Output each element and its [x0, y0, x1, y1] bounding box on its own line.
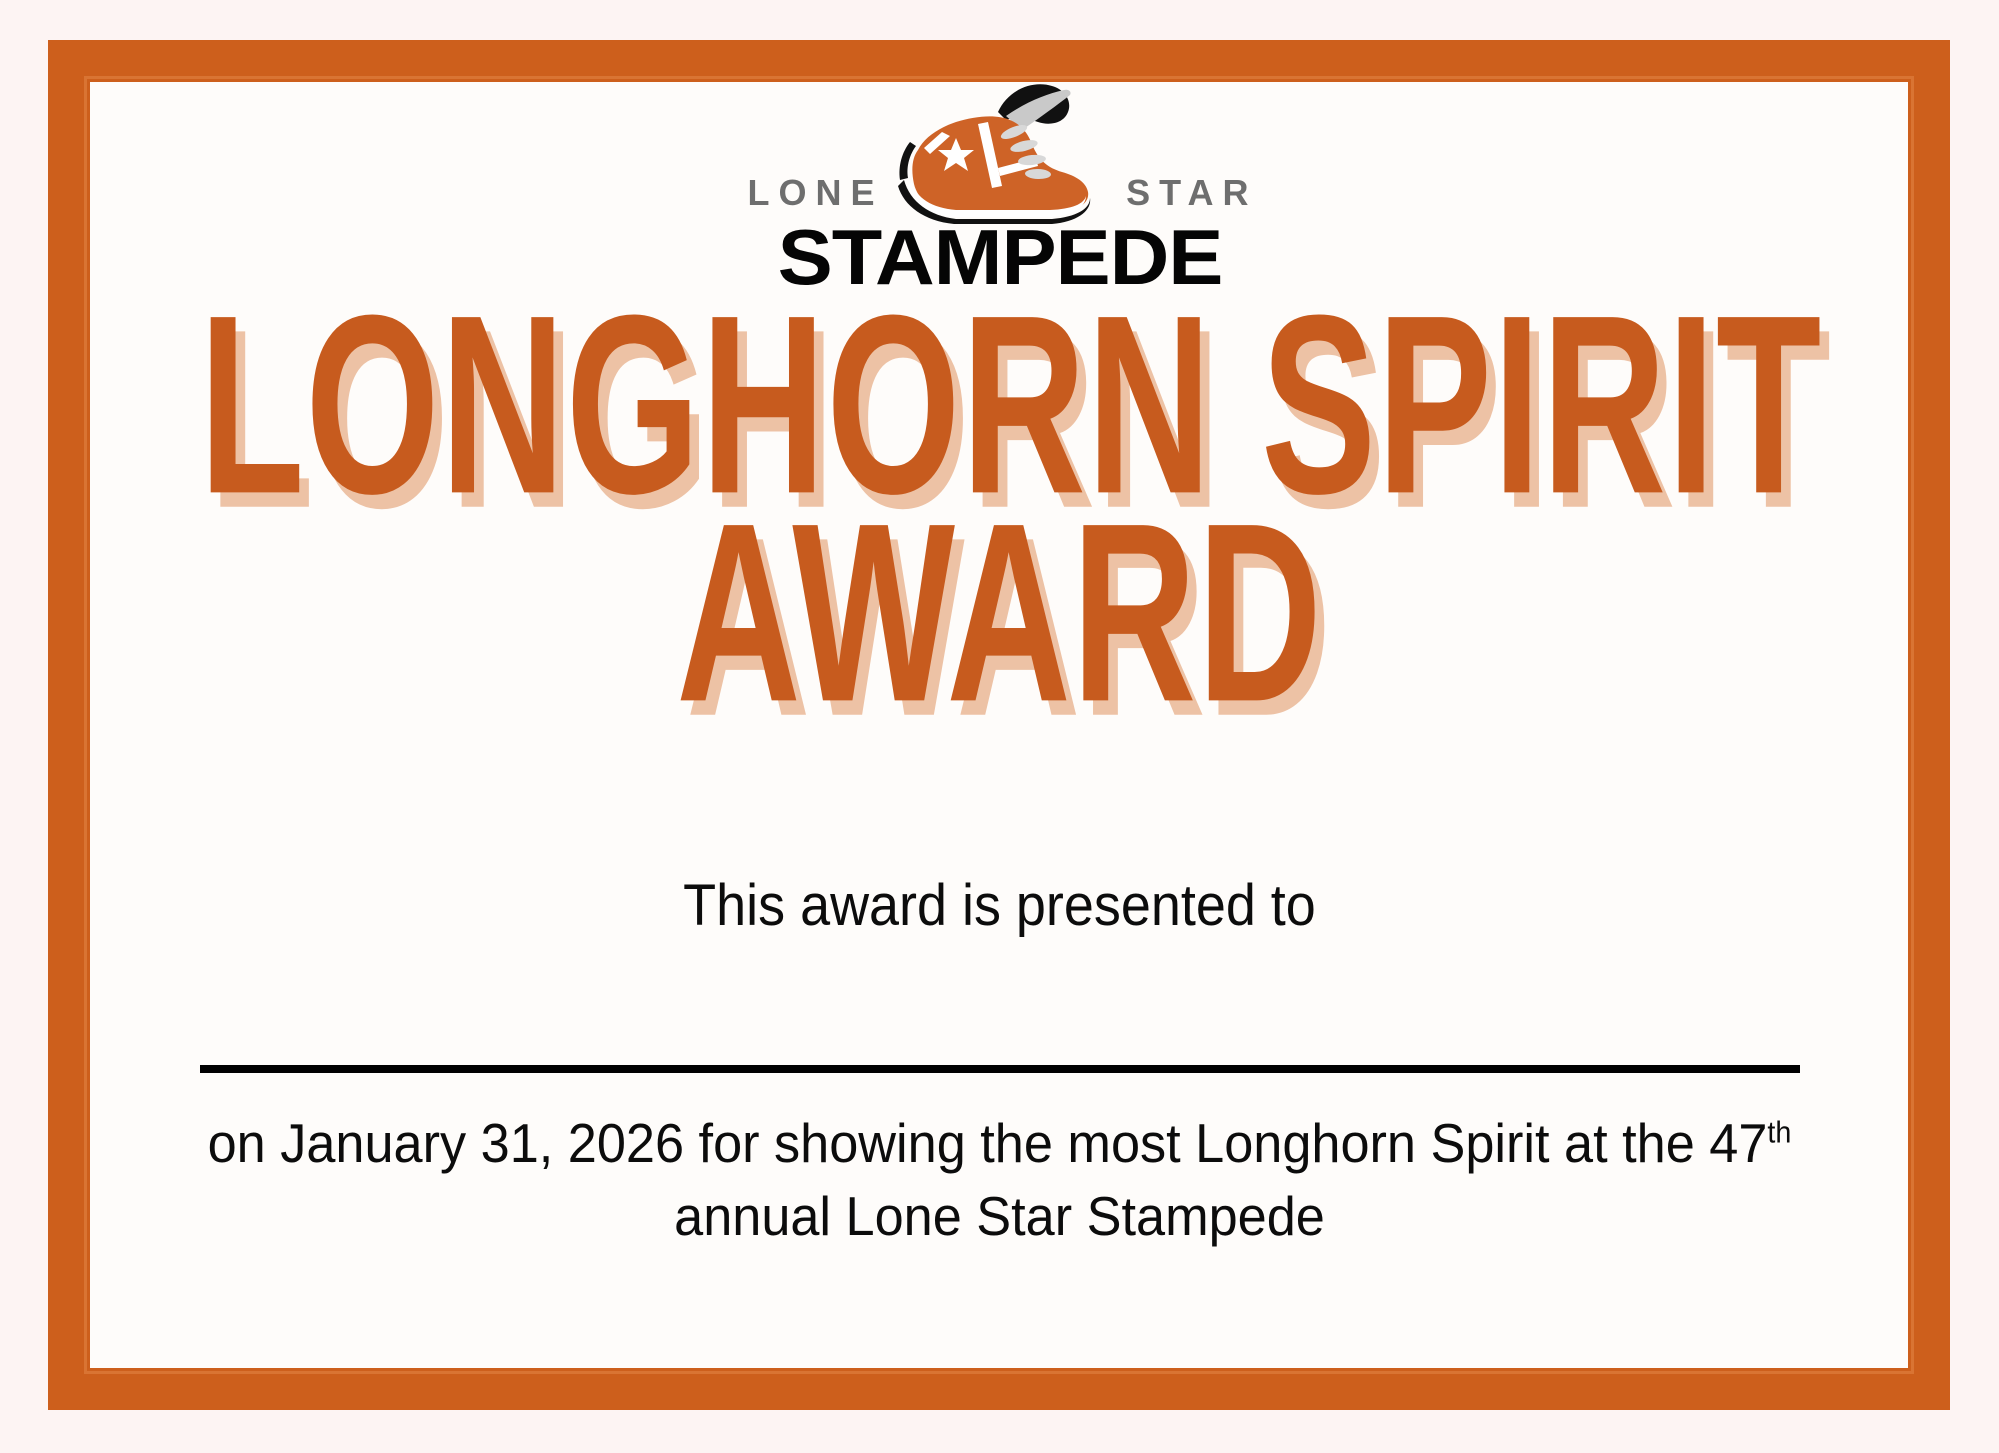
lone-star-stampede-logo: LONE STAR STAMPEDE: [90, 82, 1909, 287]
recipient-name-line[interactable]: [200, 1065, 1800, 1073]
award-title-line-2: AWARD: [199, 495, 1800, 732]
award-title: LONGHORN SPIRIT AWARD: [90, 287, 1909, 678]
logo-word-lone: LONE: [748, 172, 884, 214]
footer-text-suffix: annual Lone Star Stampede: [674, 1185, 1325, 1247]
logo-word-star: STAR: [1126, 172, 1257, 214]
presented-to-label: This award is presented to: [154, 872, 1846, 939]
logo-inner-group: LONE STAR STAMPEDE: [740, 82, 1260, 287]
award-footer-text: on January 31, 2026 for showing the most…: [173, 1107, 1825, 1252]
footer-text-prefix: on January 31, 2026 for showing the most…: [208, 1112, 1768, 1174]
footer-ordinal-suffix: th: [1767, 1117, 1791, 1150]
certificate-page: LONE STAR STAMPEDE LONGHORN SPIRIT AWARD…: [0, 0, 1999, 1453]
certificate-content: LONE STAR STAMPEDE LONGHORN SPIRIT AWARD…: [90, 82, 1909, 1368]
running-shoe-icon: [880, 76, 1130, 226]
